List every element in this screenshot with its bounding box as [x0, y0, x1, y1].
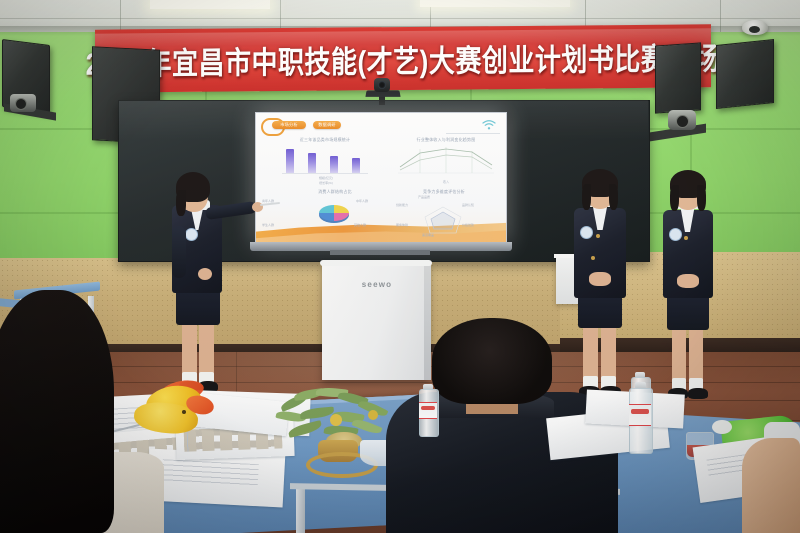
- slide-tag-secondary: 数据调研: [313, 121, 341, 129]
- teammate1-button: [596, 234, 600, 238]
- presenter-leg-right: [199, 318, 214, 380]
- bottle-label-stripe: [631, 409, 649, 414]
- bar-chart-legend-2: 增长率(%): [280, 181, 372, 185]
- water-bottle-table[interactable]: [628, 382, 652, 454]
- wall-speaker-right-large: [655, 42, 701, 113]
- teammate1-button-2: [591, 256, 595, 260]
- interactive-display-screen[interactable]: 市场分析 数据调研 近三年该品类市场规模统计 规模(亿元) 增长率(%) 行业整…: [255, 112, 507, 245]
- podium-side: [424, 264, 431, 380]
- slide-tag-primary: 市场分析: [272, 121, 306, 129]
- bottle-label: [419, 402, 437, 419]
- ptz-camera-left-lens-icon: [15, 98, 27, 110]
- radar-label-3: 价格优势: [462, 223, 474, 227]
- presenter-hand-left: [198, 268, 212, 280]
- ceiling-light-left: [150, 0, 270, 9]
- ptz-camera-right-lens-icon: [676, 115, 689, 128]
- radar-label-6: 创新能力: [396, 203, 408, 207]
- wifi-icon: [482, 119, 496, 131]
- radar-label-2: 品牌认知: [462, 203, 474, 207]
- display-stand: [330, 250, 430, 255]
- teammate1-hands: [589, 272, 611, 286]
- teammate1-leg-right: [601, 320, 616, 384]
- teammate2-shoe-right: [688, 388, 708, 399]
- teammate2-hands: [677, 274, 699, 288]
- presenter-hair-side: [176, 190, 186, 216]
- teammate1-badge: [580, 226, 593, 239]
- water-bottle-table-left[interactable]: [418, 384, 438, 436]
- fruit-decoration-2: [368, 410, 378, 420]
- line-chart-legend: 收入: [392, 179, 500, 184]
- pie-label-3: 学生人群: [262, 223, 274, 227]
- teammate2-leg-right: [689, 324, 703, 386]
- bar-chart: [282, 147, 368, 173]
- podium-top: [320, 260, 432, 266]
- radar-label-5: 服务体验: [396, 223, 408, 227]
- bar-chart-legend: 规模(亿元): [280, 176, 372, 180]
- teammate2-badge: [669, 228, 682, 241]
- stage-camera-lens-icon: [378, 81, 386, 89]
- teammate2-button: [684, 236, 688, 240]
- bar-chart-axis: [282, 173, 368, 174]
- presentation-slide: 市场分析 数据调研 近三年该品类市场规模统计 规模(亿元) 增长率(%) 行业整…: [256, 113, 506, 244]
- pie-label-4: 其他人群: [354, 223, 366, 227]
- radar-label-4: 渠道覆盖: [422, 233, 434, 237]
- teammate1-hair-side-left: [582, 184, 591, 210]
- pie-chart: [312, 201, 356, 225]
- plush-toy-eye: [182, 410, 186, 414]
- judge-center-head: [432, 318, 552, 404]
- teammate2-hair-side-left: [670, 185, 679, 211]
- classroom-competition-scene: 2025年宜昌市中职技能(才艺)大赛创业计划书比赛现场 市场分析: [0, 0, 800, 533]
- dome-camera-lens-icon: [749, 26, 760, 33]
- bottle-label-stripe: [421, 406, 435, 410]
- pie-chart-title: 消费人群结构占比: [292, 189, 378, 195]
- teammate1-hair-side-right: [609, 184, 618, 210]
- presenter-leg-left: [182, 318, 197, 380]
- presenter-badge: [185, 228, 198, 241]
- presenter-arm-left: [172, 226, 186, 278]
- green-bag-handle: [712, 420, 732, 434]
- judge-right-arm: [742, 438, 800, 533]
- teammate1-leg-left: [583, 320, 598, 384]
- teammate2-hair-side-right: [697, 185, 706, 211]
- banner-title-text: 2025年宜昌市中职技能(才艺)大赛创业计划书比赛现场: [100, 24, 706, 93]
- radar-chart-title: 竞争力多维度评估分析: [402, 189, 486, 195]
- teammate2-leg-left: [672, 324, 686, 386]
- table-leg: [296, 486, 305, 533]
- judge-left-hair: [0, 290, 114, 533]
- bottle-label: [629, 404, 651, 426]
- ceiling-light-right: [420, 0, 570, 7]
- fruit-decoration: [330, 414, 342, 426]
- pie-label-2: 中年人群: [356, 199, 368, 203]
- bar-chart-title: 近三年该品类市场规模统计: [272, 137, 378, 143]
- line-chart: [396, 143, 496, 177]
- wall-speaker-right: [716, 39, 774, 109]
- slide-divider: [446, 133, 500, 134]
- podium-brand-label: seewo: [352, 280, 402, 289]
- radar-label-1: 产品品质: [418, 195, 430, 199]
